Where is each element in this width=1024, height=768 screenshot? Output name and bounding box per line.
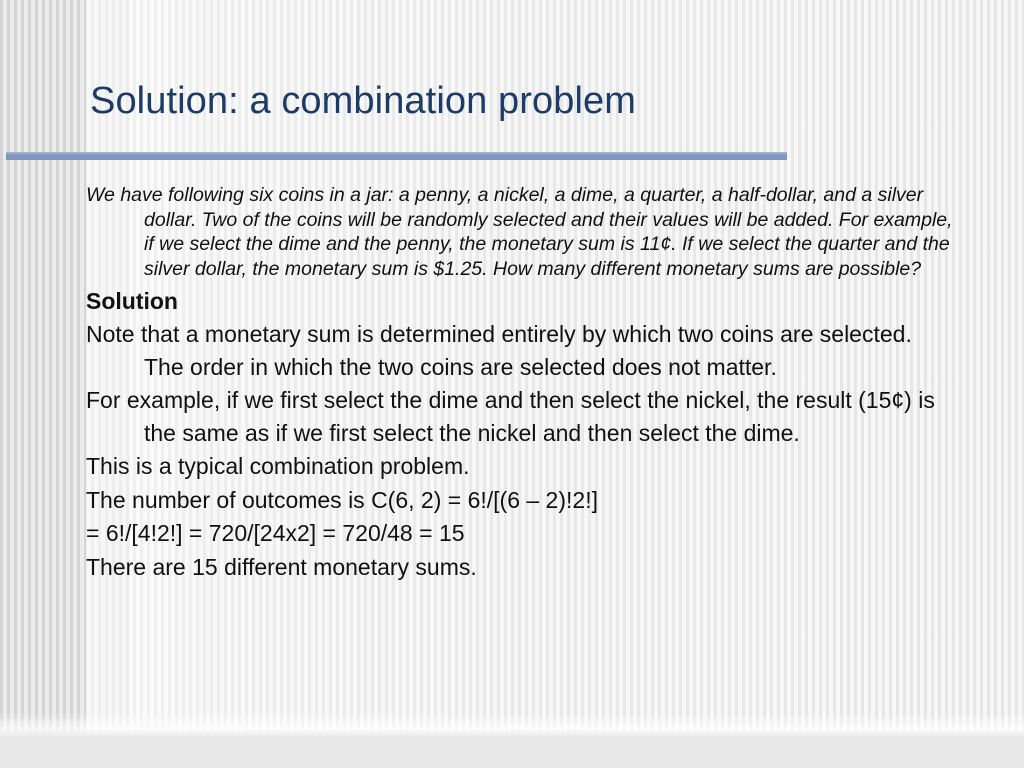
formula-line-2: = 6!/[4!2!] = 720/[24x2] = 720/48 = 15 bbox=[86, 517, 906, 550]
problem-statement-paragraph: We have following six coins in a jar: a … bbox=[86, 183, 956, 281]
slide-canvas: Solution: a combination problem We have … bbox=[0, 0, 1024, 736]
slide-bottom-fade bbox=[0, 712, 1024, 736]
solution-heading: Solution bbox=[86, 286, 906, 316]
note-paragraph: Note that a monetary sum is determined e… bbox=[86, 318, 944, 383]
page-title: Solution: a combination problem bbox=[90, 78, 950, 124]
slide-body: We have following six coins in a jar: a … bbox=[86, 183, 906, 584]
example-paragraph: For example, if we first select the dime… bbox=[86, 384, 944, 449]
conclusion-line: There are 15 different monetary sums. bbox=[86, 551, 906, 584]
typical-problem-line: This is a typical combination problem. bbox=[86, 450, 906, 483]
formula-line-1: The number of outcomes is C(6, 2) = 6!/[… bbox=[86, 484, 906, 517]
title-divider-rule bbox=[6, 152, 787, 160]
